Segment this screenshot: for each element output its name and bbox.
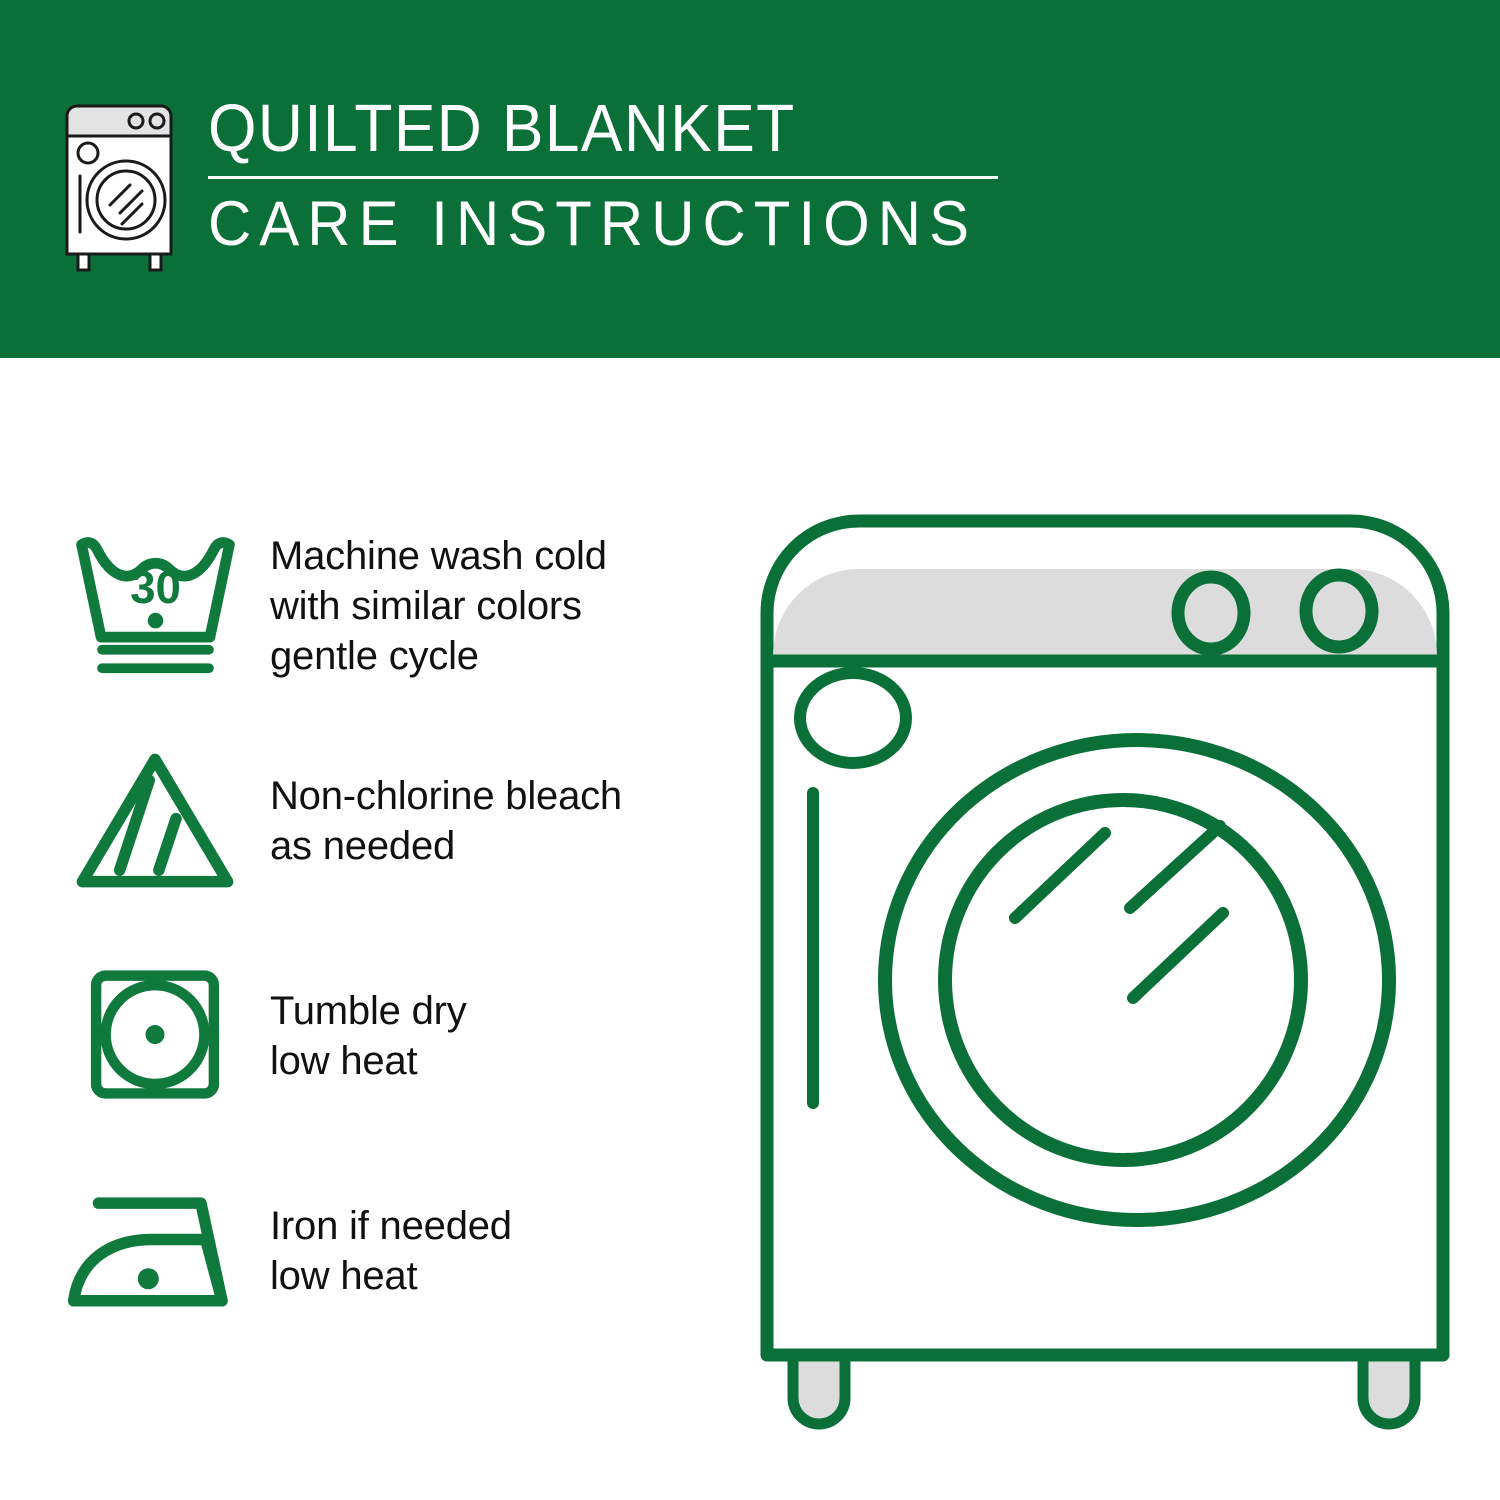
care-row-machine-wash: 30 Machine wash cold with similar colors… <box>60 498 720 713</box>
title-divider <box>208 176 998 179</box>
care-text-line: gentle cycle <box>270 631 607 681</box>
leg-right <box>1363 1353 1415 1424</box>
leg-left <box>793 1353 845 1424</box>
care-text-iron: Iron if needed low heat <box>270 1201 512 1301</box>
washing-machine-icon <box>58 100 188 272</box>
main-content: 30 Machine wash cold with similar colors… <box>0 358 1500 1500</box>
care-text-line: Tumble dry <box>270 986 467 1036</box>
care-instruction-list: 30 Machine wash cold with similar colors… <box>60 498 720 1358</box>
page-subtitle: CARE INSTRUCTIONS <box>208 187 977 261</box>
care-row-iron: Iron if needed low heat <box>60 1143 720 1358</box>
care-text-line: Non-chlorine bleach <box>270 771 622 821</box>
care-row-tumble-dry: Tumble dry low heat <box>60 928 720 1143</box>
iron-low-heat-symbol <box>60 1184 250 1318</box>
header-content: QUILTED BLANKET CARE INSTRUCTIONS <box>58 96 1018 272</box>
care-text-line: Iron if needed <box>270 1201 512 1251</box>
care-text-line: as needed <box>270 821 622 871</box>
wash-temp-label: 30 <box>130 562 181 613</box>
care-row-bleach: Non-chlorine bleach as needed <box>60 713 720 928</box>
title-block: QUILTED BLANKET CARE INSTRUCTIONS <box>208 90 1018 261</box>
header-banner: QUILTED BLANKET CARE INSTRUCTIONS <box>0 0 1500 358</box>
non-chlorine-bleach-triangle-symbol <box>60 744 250 897</box>
washing-machine-illustration <box>745 493 1465 1443</box>
care-text-line: with similar colors <box>270 581 607 631</box>
care-text-machine-wash: Machine wash cold with similar colors ge… <box>270 531 607 681</box>
care-text-line: low heat <box>270 1036 467 1086</box>
machine-wash-30-gentle-symbol: 30 <box>60 528 250 684</box>
tumble-dry-low-heat-symbol <box>60 964 250 1107</box>
care-text-line: Machine wash cold <box>270 531 607 581</box>
care-text-bleach: Non-chlorine bleach as needed <box>270 771 622 871</box>
care-text-tumble-dry: Tumble dry low heat <box>270 986 467 1086</box>
care-text-line: low heat <box>270 1251 512 1301</box>
page-title: QUILTED BLANKET <box>208 90 961 168</box>
